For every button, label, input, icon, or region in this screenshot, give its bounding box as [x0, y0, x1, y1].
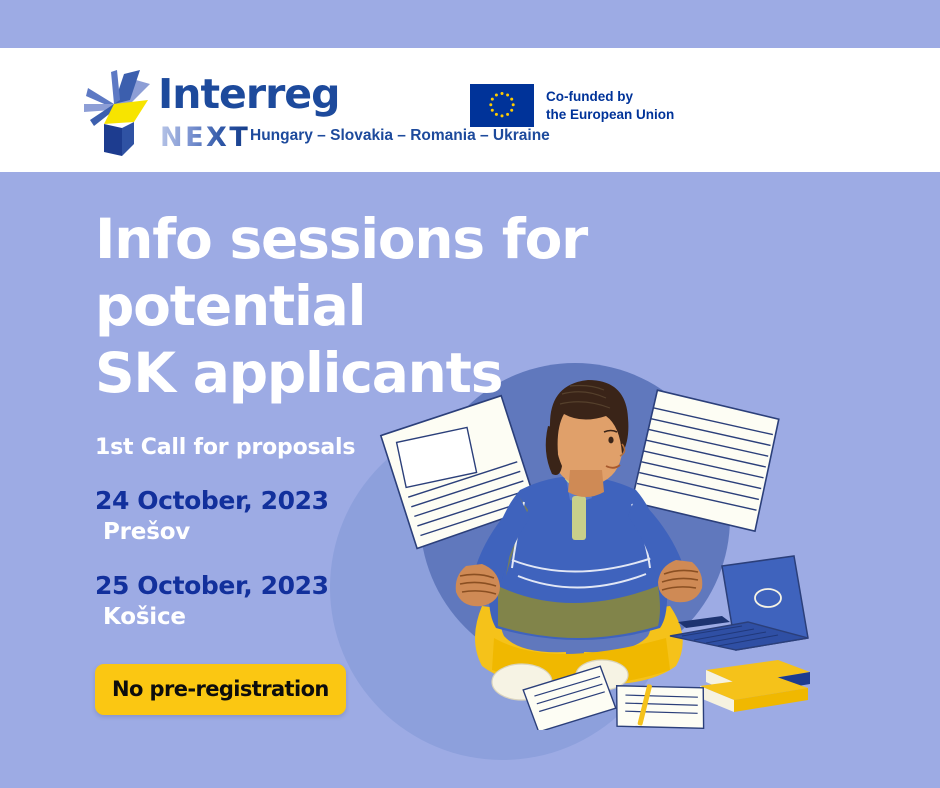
headline-line-2: SK applicants [95, 341, 502, 405]
headline-line-1: Info sessions for potential [95, 207, 587, 338]
next-wordmark: NEXT [160, 122, 250, 153]
eu-cofunding-block: Co-funded by the European Union [470, 84, 674, 127]
subtitle: 1st Call for proposals [95, 435, 775, 460]
main-content: Info sessions for potential SK applicant… [95, 206, 775, 715]
event-date-1: 24 October, 2023 [95, 486, 775, 515]
interreg-wordmark: Interreg [158, 70, 339, 118]
event-city-2: Košice [103, 604, 775, 630]
interreg-next-logo: Interreg NEXT Hungary – Slovakia – Roman… [78, 60, 598, 160]
interreg-wordmark-block: Interreg NEXT Hungary – Slovakia – Roman… [158, 64, 598, 156]
eu-cofunding-line2: the European Union [546, 106, 674, 123]
event-city-1: Prešov [103, 519, 775, 545]
no-pre-registration-button[interactable]: No pre-registration [95, 664, 346, 715]
event-item-1: 24 October, 2023 Prešov [95, 486, 775, 545]
event-item-2: 25 October, 2023 Košice [95, 571, 775, 630]
interreg-pinwheel-icon [78, 64, 150, 156]
event-date-2: 25 October, 2023 [95, 571, 775, 600]
page-title: Info sessions for potential SK applicant… [95, 206, 775, 407]
programme-countries: Hungary – Slovakia – Romania – Ukraine [250, 127, 550, 145]
logo-band: Interreg NEXT Hungary – Slovakia – Roman… [0, 48, 940, 172]
european-union-flag-icon [470, 84, 534, 127]
eu-cofunding-line1: Co-funded by [546, 88, 674, 105]
eu-cofunding-text: Co-funded by the European Union [546, 88, 674, 123]
